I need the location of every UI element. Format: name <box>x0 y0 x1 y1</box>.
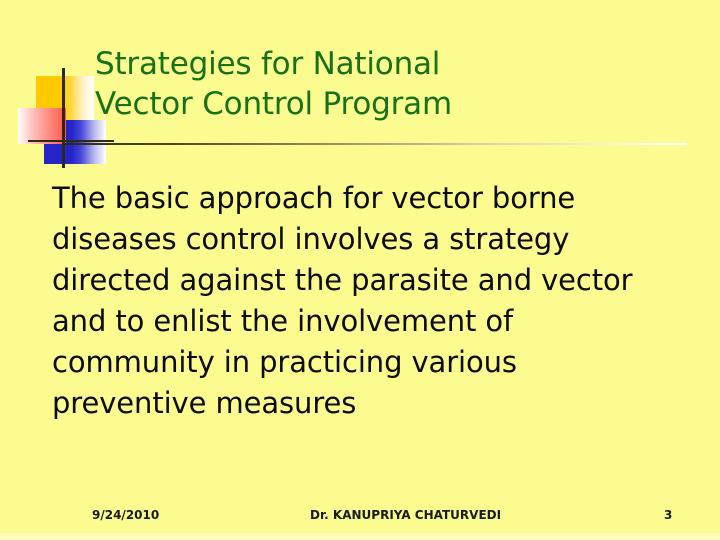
footer-author: Dr. KANUPRIYA CHATURVEDI <box>310 508 501 522</box>
horizontal-rule-icon <box>28 140 114 142</box>
presentation-slide: Strategies for National Vector Control P… <box>0 0 720 540</box>
footer-date: 9/24/2010 <box>92 508 159 522</box>
bottom-strip <box>0 533 720 540</box>
vertical-rule-icon <box>62 68 65 168</box>
title-divider <box>62 143 687 145</box>
red-square-icon <box>18 108 66 144</box>
slide-title: Strategies for National Vector Control P… <box>95 44 655 124</box>
slide-body-text: The basic approach for vector borne dise… <box>52 178 652 424</box>
footer-page-number: 3 <box>664 508 672 522</box>
